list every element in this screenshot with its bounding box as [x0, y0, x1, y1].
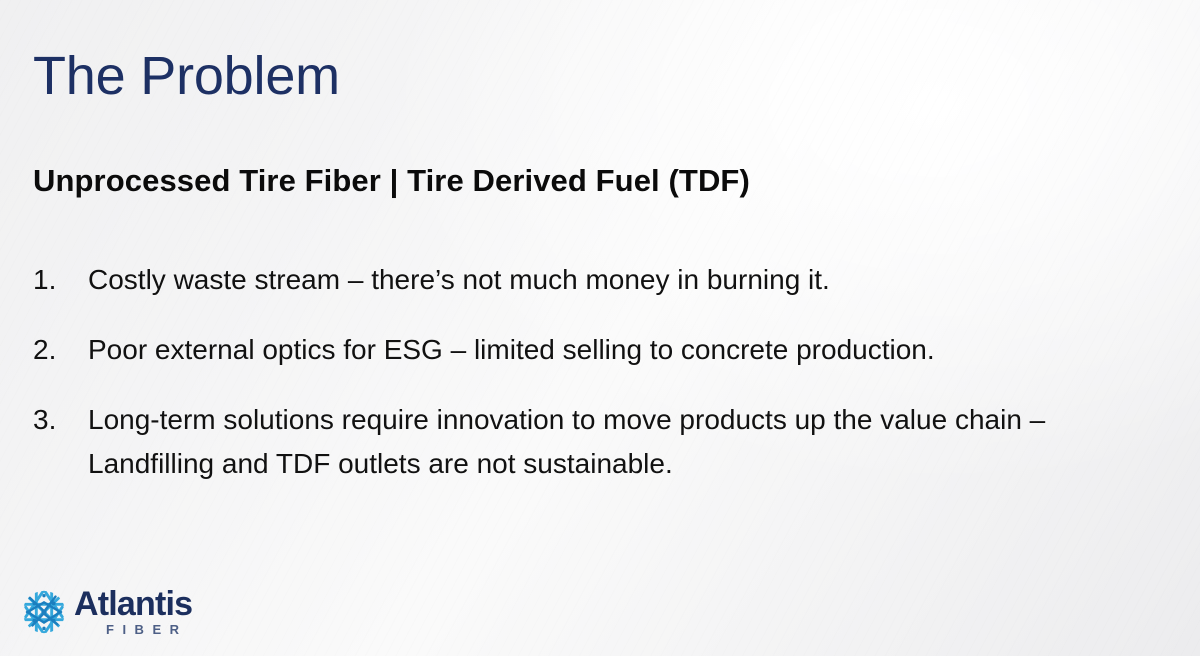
slide-canvas: The Problem Unprocessed Tire Fiber | Tir…	[0, 0, 1200, 656]
logo-wordmark: Atlantis FIBER	[74, 588, 192, 636]
network-mesh-globe-icon	[20, 588, 68, 636]
list-item: 1. Costly waste stream – there’s not muc…	[33, 258, 1173, 302]
list-item-number: 1.	[33, 258, 88, 302]
list-item-text: Costly waste stream – there’s not much m…	[88, 258, 1158, 302]
logo-tagline: FIBER	[106, 623, 188, 636]
logo-name: Atlantis	[74, 588, 192, 620]
list-item-number: 3.	[33, 398, 88, 442]
list-item-text: Long-term solutions require innovation t…	[88, 398, 1158, 486]
list-item-text: Poor external optics for ESG – limited s…	[88, 328, 1158, 372]
slide-subtitle: Unprocessed Tire Fiber | Tire Derived Fu…	[33, 163, 750, 199]
page-title: The Problem	[33, 48, 340, 105]
brand-logo: Atlantis FIBER	[20, 588, 192, 636]
list-item: 2. Poor external optics for ESG – limite…	[33, 328, 1173, 372]
list-item: 3. Long-term solutions require innovatio…	[33, 398, 1173, 486]
list-item-number: 2.	[33, 328, 88, 372]
numbered-list: 1. Costly waste stream – there’s not muc…	[33, 258, 1173, 512]
